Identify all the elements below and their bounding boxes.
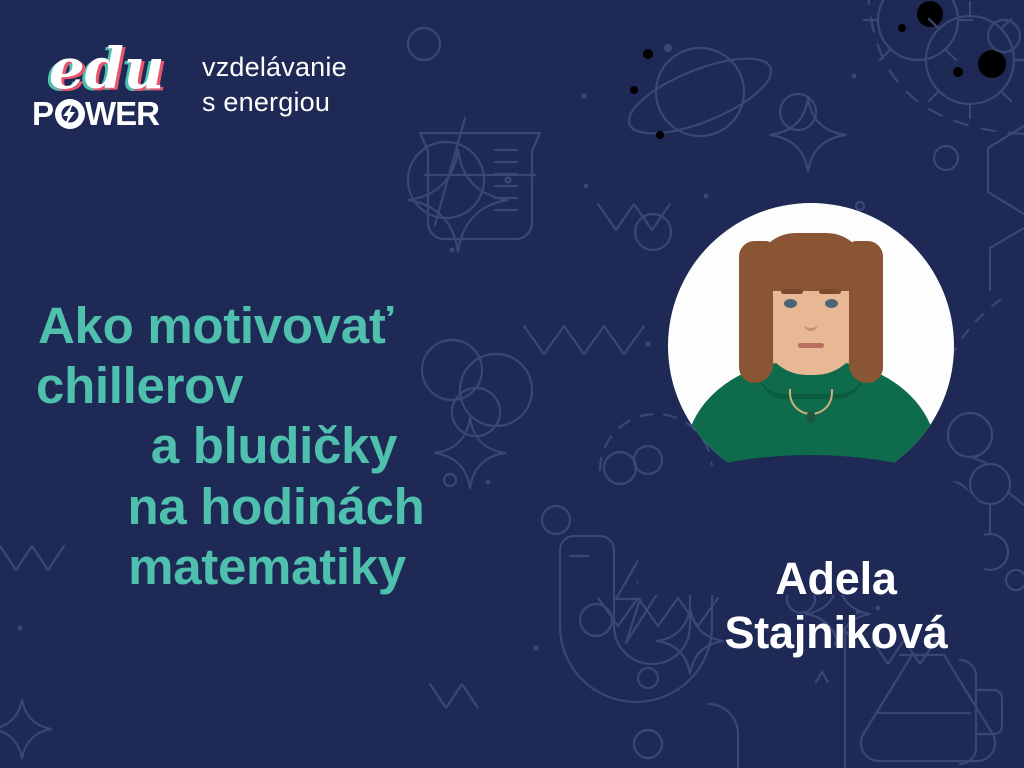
circle-icon — [934, 146, 958, 170]
cross-icon — [559, 556, 560, 557]
planet-icon — [620, 43, 780, 148]
svg-text:WER: WER — [85, 95, 160, 132]
zigzag-icon — [430, 684, 478, 708]
zigzag-icon — [524, 326, 644, 354]
headline-line: na hodinách — [48, 477, 504, 537]
dash-line-icon — [398, 22, 500, 42]
circle-icon — [580, 604, 612, 636]
plus-icon — [413, 30, 451, 68]
circle-icon — [408, 142, 484, 218]
svg-text:edu: edu — [49, 42, 165, 102]
eyebrow-right — [819, 289, 841, 294]
beaker-icon — [420, 118, 540, 239]
svg-text:P: P — [32, 95, 53, 132]
sparkle-icon — [408, 150, 508, 252]
necklace-pendant — [807, 411, 816, 423]
brand-logo: edu edu edu P WER vzdelávanie s energiou — [32, 42, 347, 138]
bunsen-burner-flask-icon — [861, 655, 1002, 764]
dashed-arc-icon — [868, 0, 1024, 134]
circle-icon — [708, 704, 738, 768]
dash-line-icon — [822, 152, 906, 192]
circle-icon — [780, 94, 816, 130]
nose — [804, 315, 818, 331]
dash-line-icon — [956, 242, 1006, 262]
circle-icon — [408, 28, 440, 60]
dash-line-icon — [394, 52, 490, 70]
headline-line: a bludičky — [44, 416, 504, 476]
headline-line: Ako motivovať — [38, 296, 504, 356]
speaker-photo — [668, 203, 954, 489]
speaker-name: Adela Stajniková — [648, 552, 1024, 660]
lightning-bolt-icon — [55, 99, 85, 129]
virus-icon — [864, 0, 1024, 118]
eye-left — [784, 299, 797, 308]
sparkle-icon — [0, 700, 51, 758]
zigzag-icon — [598, 204, 670, 230]
plus-icon — [541, 682, 575, 716]
circle-icon — [506, 178, 511, 183]
logo-wordmark-power: P WER — [32, 94, 172, 134]
dash-line-icon — [962, 148, 1024, 192]
eyebrow-left — [781, 289, 803, 294]
mouth — [798, 343, 824, 348]
circle-icon — [638, 668, 658, 688]
eye-right — [825, 299, 838, 308]
cross-icon — [588, 378, 618, 408]
cross-icon — [418, 740, 446, 768]
circle-icon — [634, 446, 662, 474]
dash-line-icon — [676, 22, 746, 40]
circle-icon — [988, 20, 1020, 52]
circle-icon — [542, 506, 570, 534]
page-title: Ako motivovať chillerov a bludičky na ho… — [34, 296, 504, 597]
circle-icon — [604, 452, 636, 484]
circle-icon — [635, 214, 671, 250]
circle-icon — [634, 730, 662, 758]
avatar — [668, 203, 954, 489]
sparkle-icon — [770, 98, 846, 172]
plus-icon — [534, 610, 578, 654]
logo-tagline: vzdelávanie s energiou — [202, 50, 347, 119]
headline-line: chillerov — [36, 356, 504, 416]
hexagon-icon — [988, 126, 1024, 290]
plus-icon — [552, 96, 604, 148]
cross-icon — [878, 150, 902, 174]
cross-icon — [506, 486, 532, 512]
logo-mark: edu edu edu P WER — [32, 42, 172, 138]
presentation-slide: edu edu edu P WER vzdelávanie s energiou… — [0, 0, 1024, 768]
hair-right — [849, 241, 883, 383]
headline-line: matematiky — [30, 537, 504, 597]
hair-left — [739, 241, 773, 383]
plus-icon — [454, 222, 494, 262]
